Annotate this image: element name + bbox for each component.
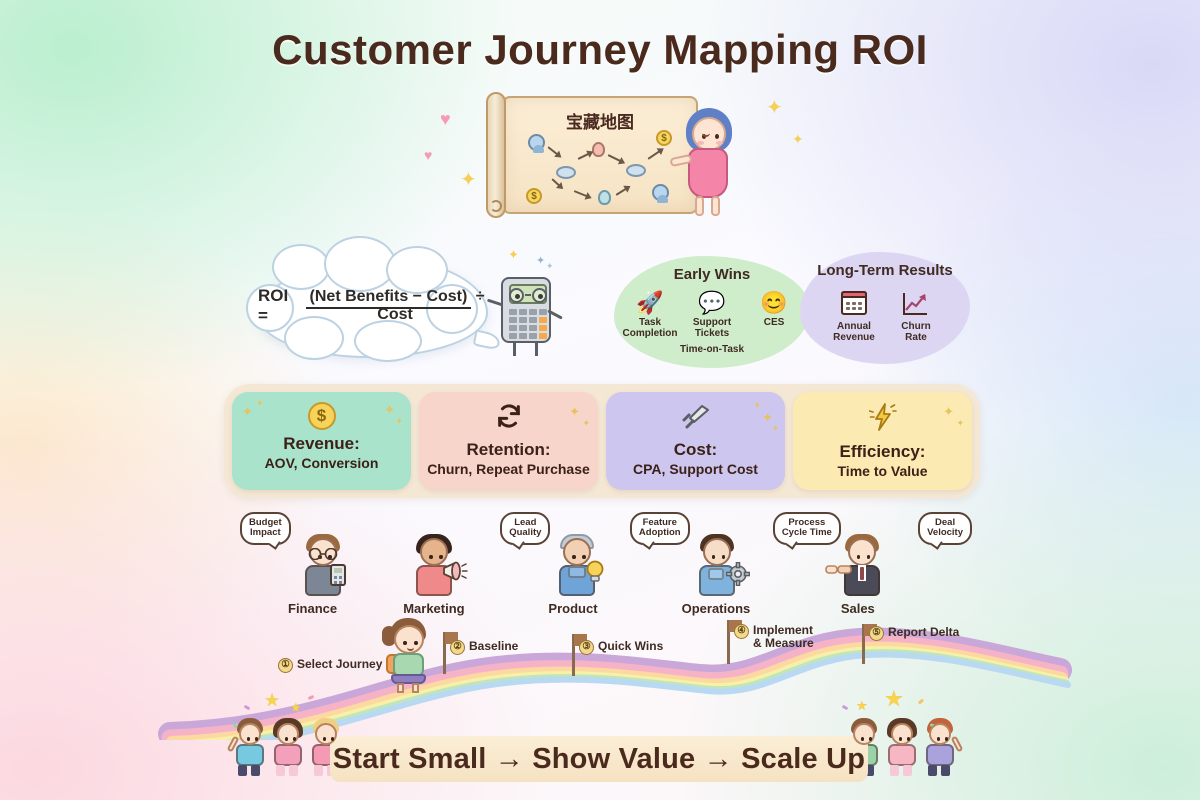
metric-label: Task Completion [619, 318, 681, 340]
stakeholder-bubble: Process Cycle Time [773, 512, 841, 545]
summary-banner: Start Small → Show Value → Scale Up [330, 736, 868, 782]
map-arrow [551, 178, 563, 189]
cloud-title: Early Wins [614, 266, 810, 283]
metric-item: 🚀 Task Completion [619, 288, 681, 340]
step-number: ② [450, 640, 465, 655]
metric-cloud-long-term-results: Long-Term Results Annual Revenue [800, 252, 970, 364]
map-arrow [647, 148, 663, 160]
sparkle-icon: ✦ [792, 132, 804, 146]
map-title-text: 宝藏地图 [504, 108, 696, 133]
card-heading: Cost: [674, 440, 717, 460]
character-dress [688, 148, 728, 198]
map-arrow [608, 154, 625, 164]
lightning-bolt-icon [869, 402, 897, 438]
step-label: Select Journey [297, 658, 382, 671]
map-arrow [547, 146, 561, 157]
journey-step-3[interactable]: ③ Quick Wins [579, 640, 663, 655]
step-label: Report Delta [888, 626, 959, 639]
stakeholder-row: Budget Impact Finance [246, 512, 962, 616]
sparkle-icon: ✦ [460, 170, 477, 190]
card-heading: Revenue: [283, 434, 360, 454]
metric-label: CES [743, 318, 805, 329]
stakeholder-marketing[interactable]: Lead Quality Marketing [389, 512, 532, 616]
metric-cloud-early-wins: Early Wins 🚀 Task Completion 💬 Support T… [614, 256, 810, 368]
scroll-rod [486, 92, 506, 218]
map-node-idea [598, 190, 611, 205]
stakeholder-bubble: Budget Impact [240, 512, 291, 545]
stakeholder-finance[interactable]: Budget Impact Finance [246, 512, 389, 616]
sparkle-icon: ✦ [546, 262, 554, 271]
journey-path-section: ① Select Journey ② Baseline ③ Quick Wins… [0, 610, 1200, 740]
sparkle-icon: ✦ [508, 248, 519, 261]
heart-icon: ♥ [440, 110, 451, 128]
metric-extra-label: Time-on-Task [614, 344, 810, 355]
infographic-canvas: Customer Journey Mapping ROI ♥ ♥ ✦ ✦ ✦ ✦… [0, 0, 1200, 800]
map-node-coin: $ [526, 188, 542, 204]
refresh-arrows-icon [495, 402, 523, 436]
celebration-kid [270, 718, 306, 776]
metric-card-revenue[interactable]: ✦ ✦ ✦ ✦ $ Revenue: AOV, Conversion [232, 392, 411, 490]
star-icon: ★ [264, 690, 280, 711]
calendar-icon [823, 288, 885, 318]
metric-card-cost[interactable]: ✦ ✦ ✦ Cost: CPA, Support Cost [606, 392, 785, 490]
rainbow-path [0, 610, 1200, 740]
heart-icon: ♥ [424, 148, 432, 162]
map-node-stop [556, 166, 576, 179]
map-arrow [574, 190, 591, 199]
metric-cards: ✦ ✦ ✦ ✦ $ Revenue: AOV, Conversion ✦ ✦ R… [232, 392, 972, 490]
cloud-title: Long-Term Results [800, 262, 970, 279]
stakeholder-operations[interactable]: Process Cycle Time Operations [676, 512, 819, 616]
journey-step-4[interactable]: ④ Implement & Measure [734, 624, 814, 651]
metric-item: Annual Revenue [823, 288, 885, 344]
roi-formula-bubble: ROI = (Net Benefits − Cost) ÷ Cost [258, 258, 488, 358]
pruning-shears-icon [681, 402, 711, 436]
journey-walker-character [380, 618, 438, 692]
page-title: Customer Journey Mapping ROI [0, 26, 1200, 74]
stakeholder-product[interactable]: Feature Adoption Product [532, 512, 675, 616]
metric-item: Churn Rate [885, 288, 947, 344]
metric-card-retention[interactable]: ✦ ✦ Retention: Churn, Repeat Purchase [419, 392, 598, 490]
star-icon: ★ [884, 686, 904, 712]
card-heading: Retention: [466, 440, 550, 460]
glasses-icon [509, 288, 524, 303]
stakeholder-bubble: Lead Quality [500, 512, 550, 545]
trend-chart-icon [885, 288, 947, 318]
metric-label: Support Tickets [681, 318, 743, 340]
stakeholder-bubble: Deal Velocity [918, 512, 972, 545]
celebration-kid [922, 718, 958, 776]
walker-head [394, 625, 424, 654]
gear-icon [726, 562, 750, 586]
map-node-person [652, 184, 669, 201]
smiley-icon: 😊 [743, 288, 805, 318]
journey-step-1[interactable]: ① Select Journey [278, 658, 382, 673]
step-number: ① [278, 658, 293, 673]
metric-label: Annual Revenue [823, 322, 885, 344]
card-detail: Time to Value [838, 463, 928, 479]
journey-step-2[interactable]: ② Baseline [450, 640, 518, 655]
metric-item: 💬 Support Tickets [681, 288, 743, 340]
map-arrow [578, 151, 593, 160]
step-label: Implement & Measure [753, 624, 814, 651]
treasure-map-illustration: 宝藏地图 $ $ [486, 92, 716, 220]
calculator-mascot [495, 277, 557, 357]
map-node-coin: $ [656, 130, 672, 146]
glasses-icon [532, 288, 547, 303]
stakeholder-bubble: Feature Adoption [630, 512, 690, 545]
rocket-icon: 🚀 [619, 288, 681, 318]
sparkle-icon: ✦ [766, 98, 783, 118]
step-number: ⑤ [869, 626, 884, 641]
map-node-stop [626, 164, 646, 177]
step-label: Baseline [469, 640, 518, 653]
celebration-group-left [232, 718, 344, 776]
roi-equation: ROI = (Net Benefits − Cost) ÷ Cost [258, 286, 488, 326]
coin-icon: $ [308, 402, 336, 430]
map-node-person [528, 134, 545, 151]
scroll-parchment: 宝藏地图 $ $ [502, 96, 698, 214]
banner-text: Start Small → Show Value → Scale Up [333, 743, 865, 776]
card-heading: Efficiency: [840, 442, 926, 462]
step-label: Quick Wins [598, 640, 663, 653]
step-number: ③ [579, 640, 594, 655]
megaphone-icon [442, 560, 468, 582]
metric-item: 😊 CES [743, 288, 805, 329]
lightbulb-icon [585, 560, 605, 584]
card-detail: CPA, Support Cost [633, 461, 758, 477]
presenter-character [682, 108, 734, 220]
handshake-icon [825, 562, 853, 578]
metric-label: Churn Rate [885, 322, 947, 344]
sparkle-icon: ✦ [536, 256, 545, 267]
card-detail: Churn, Repeat Purchase [427, 461, 590, 477]
calculator-icon [330, 564, 346, 586]
roi-lhs: ROI = [258, 286, 296, 326]
star-icon: ★ [290, 700, 302, 716]
card-detail: AOV, Conversion [265, 455, 379, 471]
map-arrow [615, 186, 630, 196]
step-number: ④ [734, 624, 749, 639]
celebration-kid [884, 718, 920, 776]
journey-step-5[interactable]: ⑤ Report Delta [869, 626, 959, 641]
metric-card-efficiency[interactable]: ✦ ✦ Efficiency: Time to Value [793, 392, 972, 490]
chat-bubbles-icon: 💬 [681, 288, 743, 318]
star-icon: ★ [856, 698, 868, 714]
